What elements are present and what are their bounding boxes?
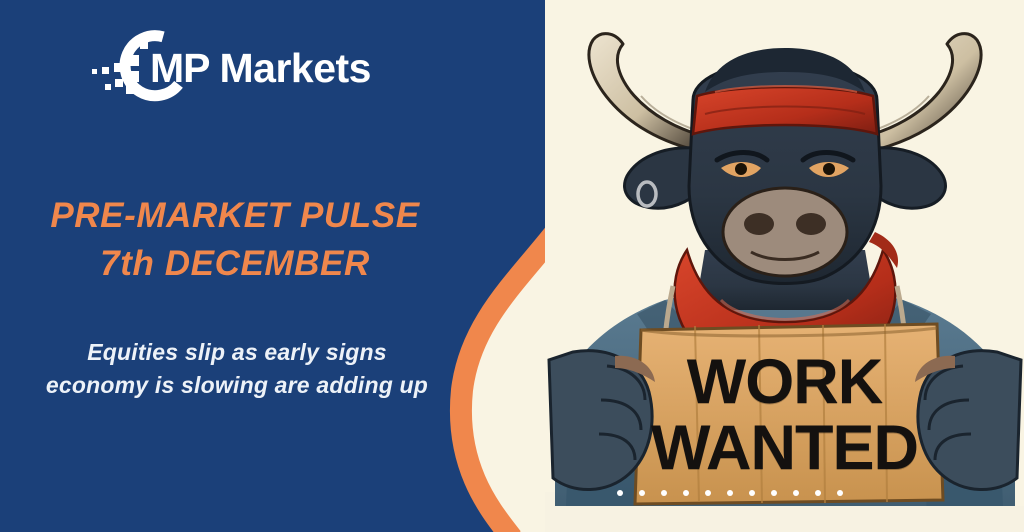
muzzle-icon (723, 188, 847, 276)
logo-wordmark: MPMarkets (150, 45, 371, 92)
page-title: PRE-MARKET PULSE 7th DECEMBER (0, 192, 470, 287)
headline-line2: 7th DECEMBER (0, 240, 470, 288)
mp-markets-logo[interactable]: MPMarkets (88, 29, 408, 107)
bull-illustration (545, 0, 1024, 532)
logo-text-markets: Markets (220, 45, 371, 91)
subtitle-line2: economy is slowing are adding up (0, 369, 474, 402)
subtitle-line1: Equities slip as early signs (0, 336, 474, 369)
headline-line1: PRE-MARKET PULSE (0, 192, 470, 240)
subtitle: Equities slip as early signs economy is … (0, 336, 474, 401)
decorative-dot-row (617, 490, 857, 498)
bull-artwork-panel: WORK WANTED (545, 0, 1024, 532)
artwork-left-strip (545, 492, 555, 532)
artwork-bottom-strip (545, 506, 1024, 532)
cardboard-sign-icon (635, 324, 943, 504)
logo-text-mp: MP (150, 45, 210, 91)
pre-market-pulse-banner: WORK WANTED (0, 0, 1024, 532)
